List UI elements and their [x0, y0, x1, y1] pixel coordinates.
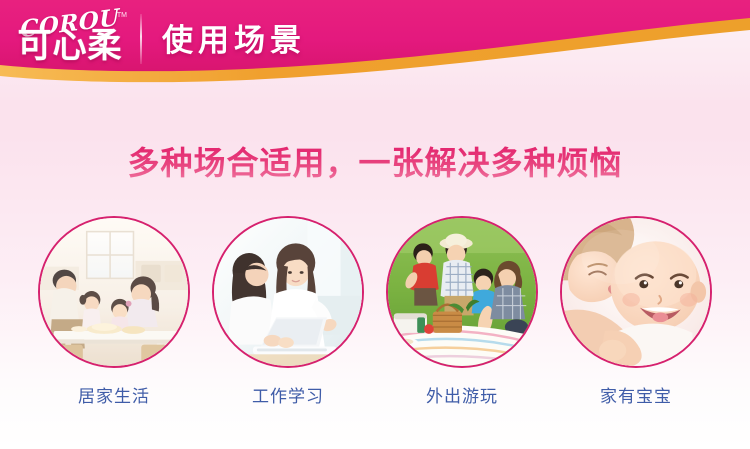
section-title: 使用场景 [162, 15, 306, 60]
scene-card-baby-at-home[interactable]: 家有宝宝 [560, 216, 712, 407]
scene-caption-home-life: 居家生活 [78, 382, 150, 407]
scene-caption-outdoor-trip: 外出游玩 [426, 382, 498, 407]
scene-card-work-study[interactable]: 工作学习 [212, 216, 364, 407]
scene-card-list: 居家生活 [0, 216, 750, 407]
header-divider [140, 14, 142, 64]
illustration-mother-and-baby [562, 218, 710, 366]
brand-logo: COROU TM 可心柔 [14, 8, 126, 70]
scene-image-outdoor-trip [386, 216, 538, 368]
scene-image-work-study [212, 216, 364, 368]
illustration-family-dining [40, 218, 188, 366]
brand-chinese-logo: 可心柔 [14, 26, 126, 66]
scene-card-outdoor-trip[interactable]: 外出游玩 [386, 216, 538, 407]
promo-poster: COROU TM 可心柔 使用场景 多种场合适用，一张解决多种烦恼 [0, 0, 750, 449]
trademark-icon: TM [117, 12, 127, 19]
scene-card-home-life[interactable]: 居家生活 [38, 216, 190, 407]
scene-image-home-life [38, 216, 190, 368]
scene-image-baby-at-home [560, 216, 712, 368]
illustration-women-laptop [214, 218, 362, 366]
header-content: COROU TM 可心柔 使用场景 [0, 0, 750, 78]
illustration-family-picnic [388, 218, 536, 366]
scene-caption-work-study: 工作学习 [252, 382, 324, 407]
headline-text: 多种场合适用，一张解决多种烦恼 [0, 143, 750, 183]
scene-caption-baby-at-home: 家有宝宝 [600, 382, 672, 407]
header-banner: COROU TM 可心柔 使用场景 [0, 0, 750, 100]
